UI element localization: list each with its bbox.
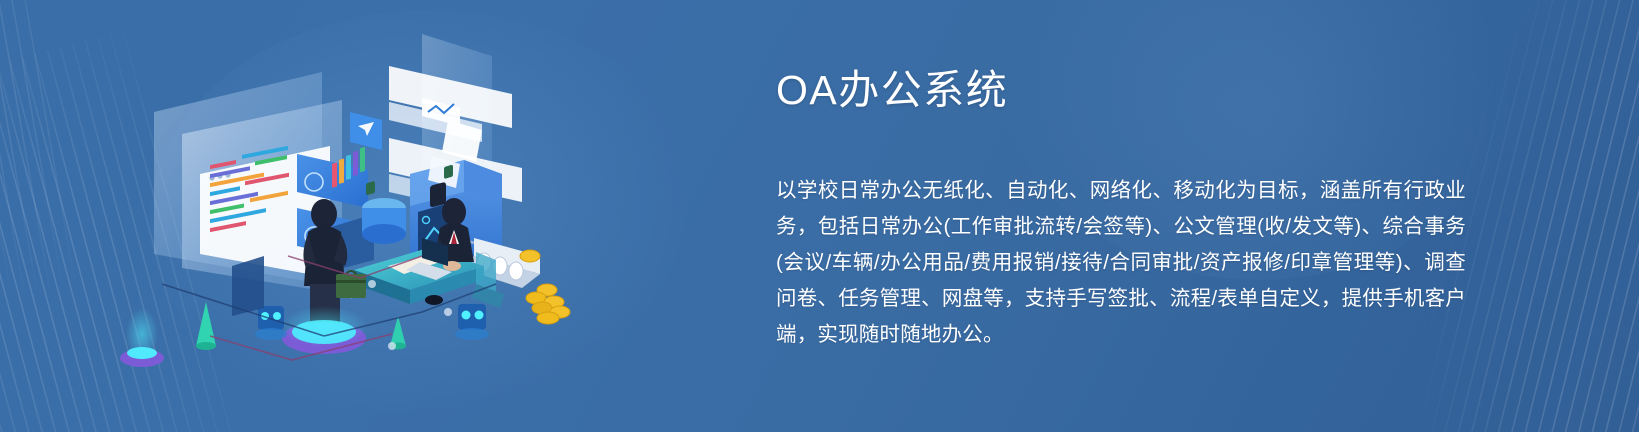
banner-description: 以学校日常办公无纸化、自动化、网络化、移动化为目标，涵盖所有行政业务，包括日常办…: [776, 173, 1466, 353]
data-cylinder: [362, 198, 406, 244]
gold-coins: [520, 250, 570, 324]
screen-stand: [232, 256, 264, 316]
glow-pedestal-main: [280, 306, 368, 354]
robot-device-right: [455, 304, 489, 340]
glow-pedestal-small: [120, 308, 164, 367]
diagonal-stripes-top-left-decoration: [0, 0, 85, 312]
crystal-cone-left: [196, 302, 216, 350]
oa-office-illustration: [92, 16, 592, 416]
banner-text-column: OA办公系统 以学校日常办公无纸化、自动化、网络化、移动化为目标，涵盖所有行政业…: [776, 66, 1476, 353]
page-title: OA办公系统: [776, 66, 1476, 115]
send-icon-tile: [350, 112, 382, 150]
oa-system-banner: OA办公系统 以学校日常办公无纸化、自动化、网络化、移动化为目标，涵盖所有行政业…: [0, 0, 1639, 432]
